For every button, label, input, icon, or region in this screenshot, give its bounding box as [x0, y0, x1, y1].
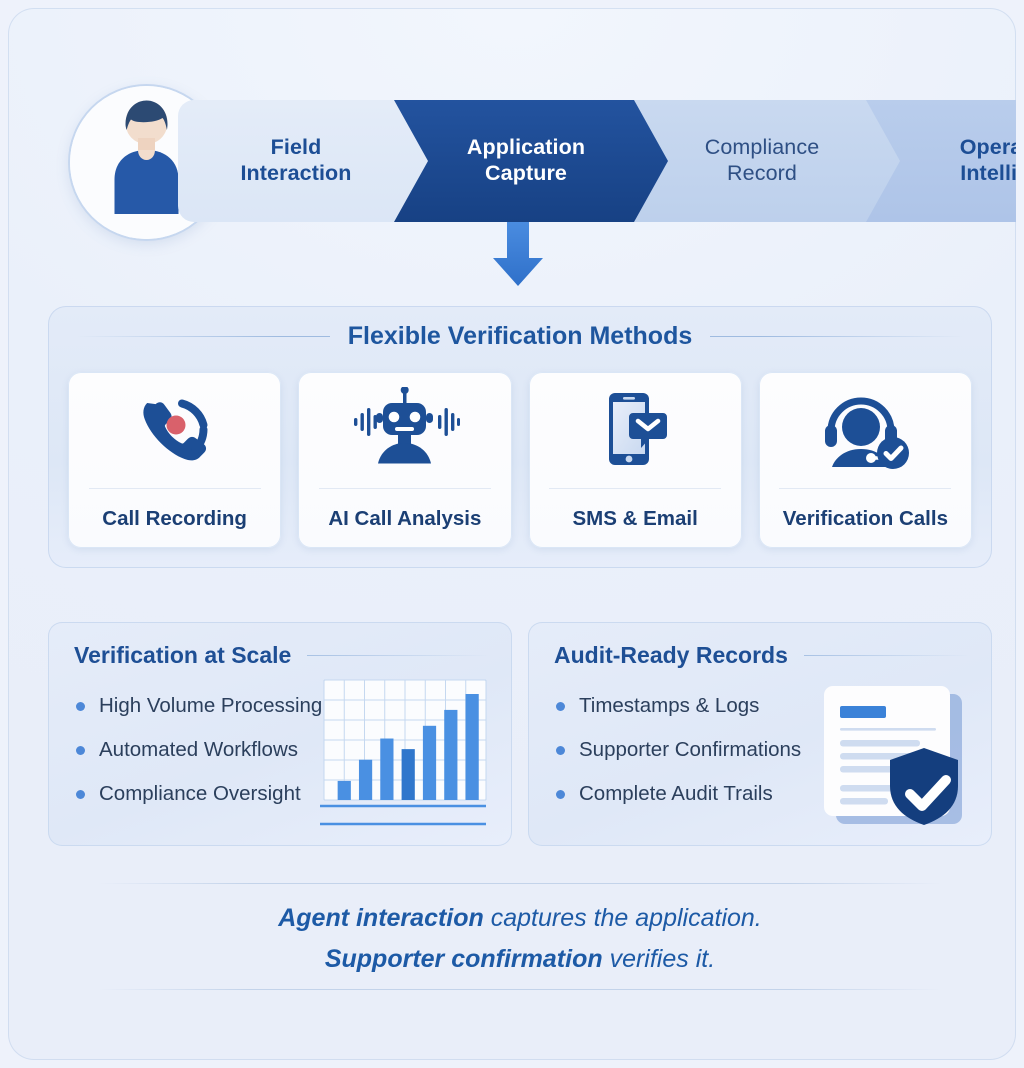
bullet-dot-icon	[556, 790, 565, 799]
list-item-label: Timestamps & Logs	[579, 694, 759, 718]
panel-title-row: Audit-Ready Records	[554, 642, 970, 669]
document-shield-icon	[812, 680, 980, 832]
method-card-ai-call-analysis[interactable]: AI Call Analysis	[298, 372, 511, 548]
tagline-2-bold: Supporter confirmation	[325, 945, 603, 973]
bullet-dot-icon	[76, 790, 85, 799]
methods-title: Flexible Verification Methods	[348, 322, 693, 351]
panel-title-rule	[804, 655, 970, 657]
list-item: Compliance Oversight	[76, 772, 322, 816]
panel-title-rule	[307, 655, 490, 657]
list-item-label: Compliance Oversight	[99, 782, 301, 806]
method-card-label: Verification Calls	[783, 489, 948, 548]
bullet-dot-icon	[76, 702, 85, 711]
method-card-sms-email[interactable]: SMS & Email	[529, 372, 742, 548]
infographic-frame: Field Interaction Application Capture Co…	[8, 8, 1016, 1060]
flow-step-label-line1: Compliance	[705, 135, 820, 161]
tagline-line-2: Supporter confirmation verifies it.	[8, 939, 1016, 980]
tagline-1-rest: captures the application.	[484, 904, 762, 932]
panel-title: Verification at Scale	[74, 642, 291, 669]
footer-tagline: Agent interaction captures the applicati…	[8, 898, 1016, 979]
smartphone-message-icon	[592, 372, 678, 488]
list-item-label: Complete Audit Trails	[579, 782, 773, 806]
footer-divider-bottom	[98, 989, 942, 990]
panel-title: Audit-Ready Records	[554, 642, 788, 669]
list-item: Timestamps & Logs	[556, 684, 801, 728]
bullet-dot-icon	[556, 702, 565, 711]
method-card-label: SMS & Email	[572, 489, 697, 548]
bullet-dot-icon	[76, 746, 85, 755]
method-card-call-recording[interactable]: Call Recording	[68, 372, 281, 548]
flow-step-label-line1: Application	[467, 135, 585, 161]
panel-title-row: Verification at Scale	[74, 642, 490, 669]
flow-step-label-line2: Intelligence	[960, 161, 1016, 187]
list-item: High Volume Processing	[76, 684, 322, 728]
flow-step-compliance-record[interactable]: Compliance Record	[634, 100, 912, 222]
list-item: Automated Workflows	[76, 728, 322, 772]
list-item: Supporter Confirmations	[556, 728, 801, 772]
process-flow-bar: Field Interaction Application Capture Co…	[178, 100, 978, 222]
panel-verification-at-scale: Verification at Scale High Volume Proces…	[48, 622, 512, 846]
method-card-label: AI Call Analysis	[328, 489, 481, 548]
arrow-down-icon	[487, 222, 549, 290]
method-card-label: Call Recording	[102, 489, 247, 548]
tagline-line-1: Agent interaction captures the applicati…	[8, 898, 1016, 939]
title-rule-right	[710, 336, 964, 338]
title-rule-left	[76, 336, 330, 338]
flow-step-label-line2: Record	[705, 161, 820, 187]
tagline-2-rest: verifies it.	[603, 945, 716, 973]
robot-voice-icon	[350, 372, 460, 488]
panel-bullet-list: High Volume Processing Automated Workflo…	[76, 684, 322, 816]
verification-methods-panel: Flexible Verification Methods Call Recor…	[48, 306, 992, 568]
list-item-label: High Volume Processing	[99, 694, 322, 718]
flow-step-label-line1: Field	[240, 135, 351, 161]
phone-record-icon	[132, 372, 218, 488]
methods-title-row: Flexible Verification Methods	[76, 322, 964, 351]
flow-step-label-line2: Capture	[467, 161, 585, 187]
list-item: Complete Audit Trails	[556, 772, 801, 816]
headset-check-icon	[817, 372, 913, 488]
flow-step-field-interaction[interactable]: Field Interaction	[178, 100, 440, 222]
tagline-1-bold: Agent interaction	[278, 904, 484, 932]
bar-chart-icon	[318, 676, 496, 832]
list-item-label: Automated Workflows	[99, 738, 298, 762]
flow-step-label-line2: Interaction	[240, 161, 351, 187]
list-item-label: Supporter Confirmations	[579, 738, 801, 762]
panel-bullet-list: Timestamps & Logs Supporter Confirmation…	[556, 684, 801, 816]
flow-step-label-line1: Operational	[960, 135, 1016, 161]
flow-step-application-capture[interactable]: Application Capture	[394, 100, 680, 222]
method-card-verification-calls[interactable]: Verification Calls	[759, 372, 972, 548]
panel-audit-ready-records: Audit-Ready Records Timestamps & Logs Su…	[528, 622, 992, 846]
bullet-dot-icon	[556, 746, 565, 755]
methods-card-list: Call Recording	[68, 372, 972, 548]
footer-divider-top	[98, 883, 942, 884]
